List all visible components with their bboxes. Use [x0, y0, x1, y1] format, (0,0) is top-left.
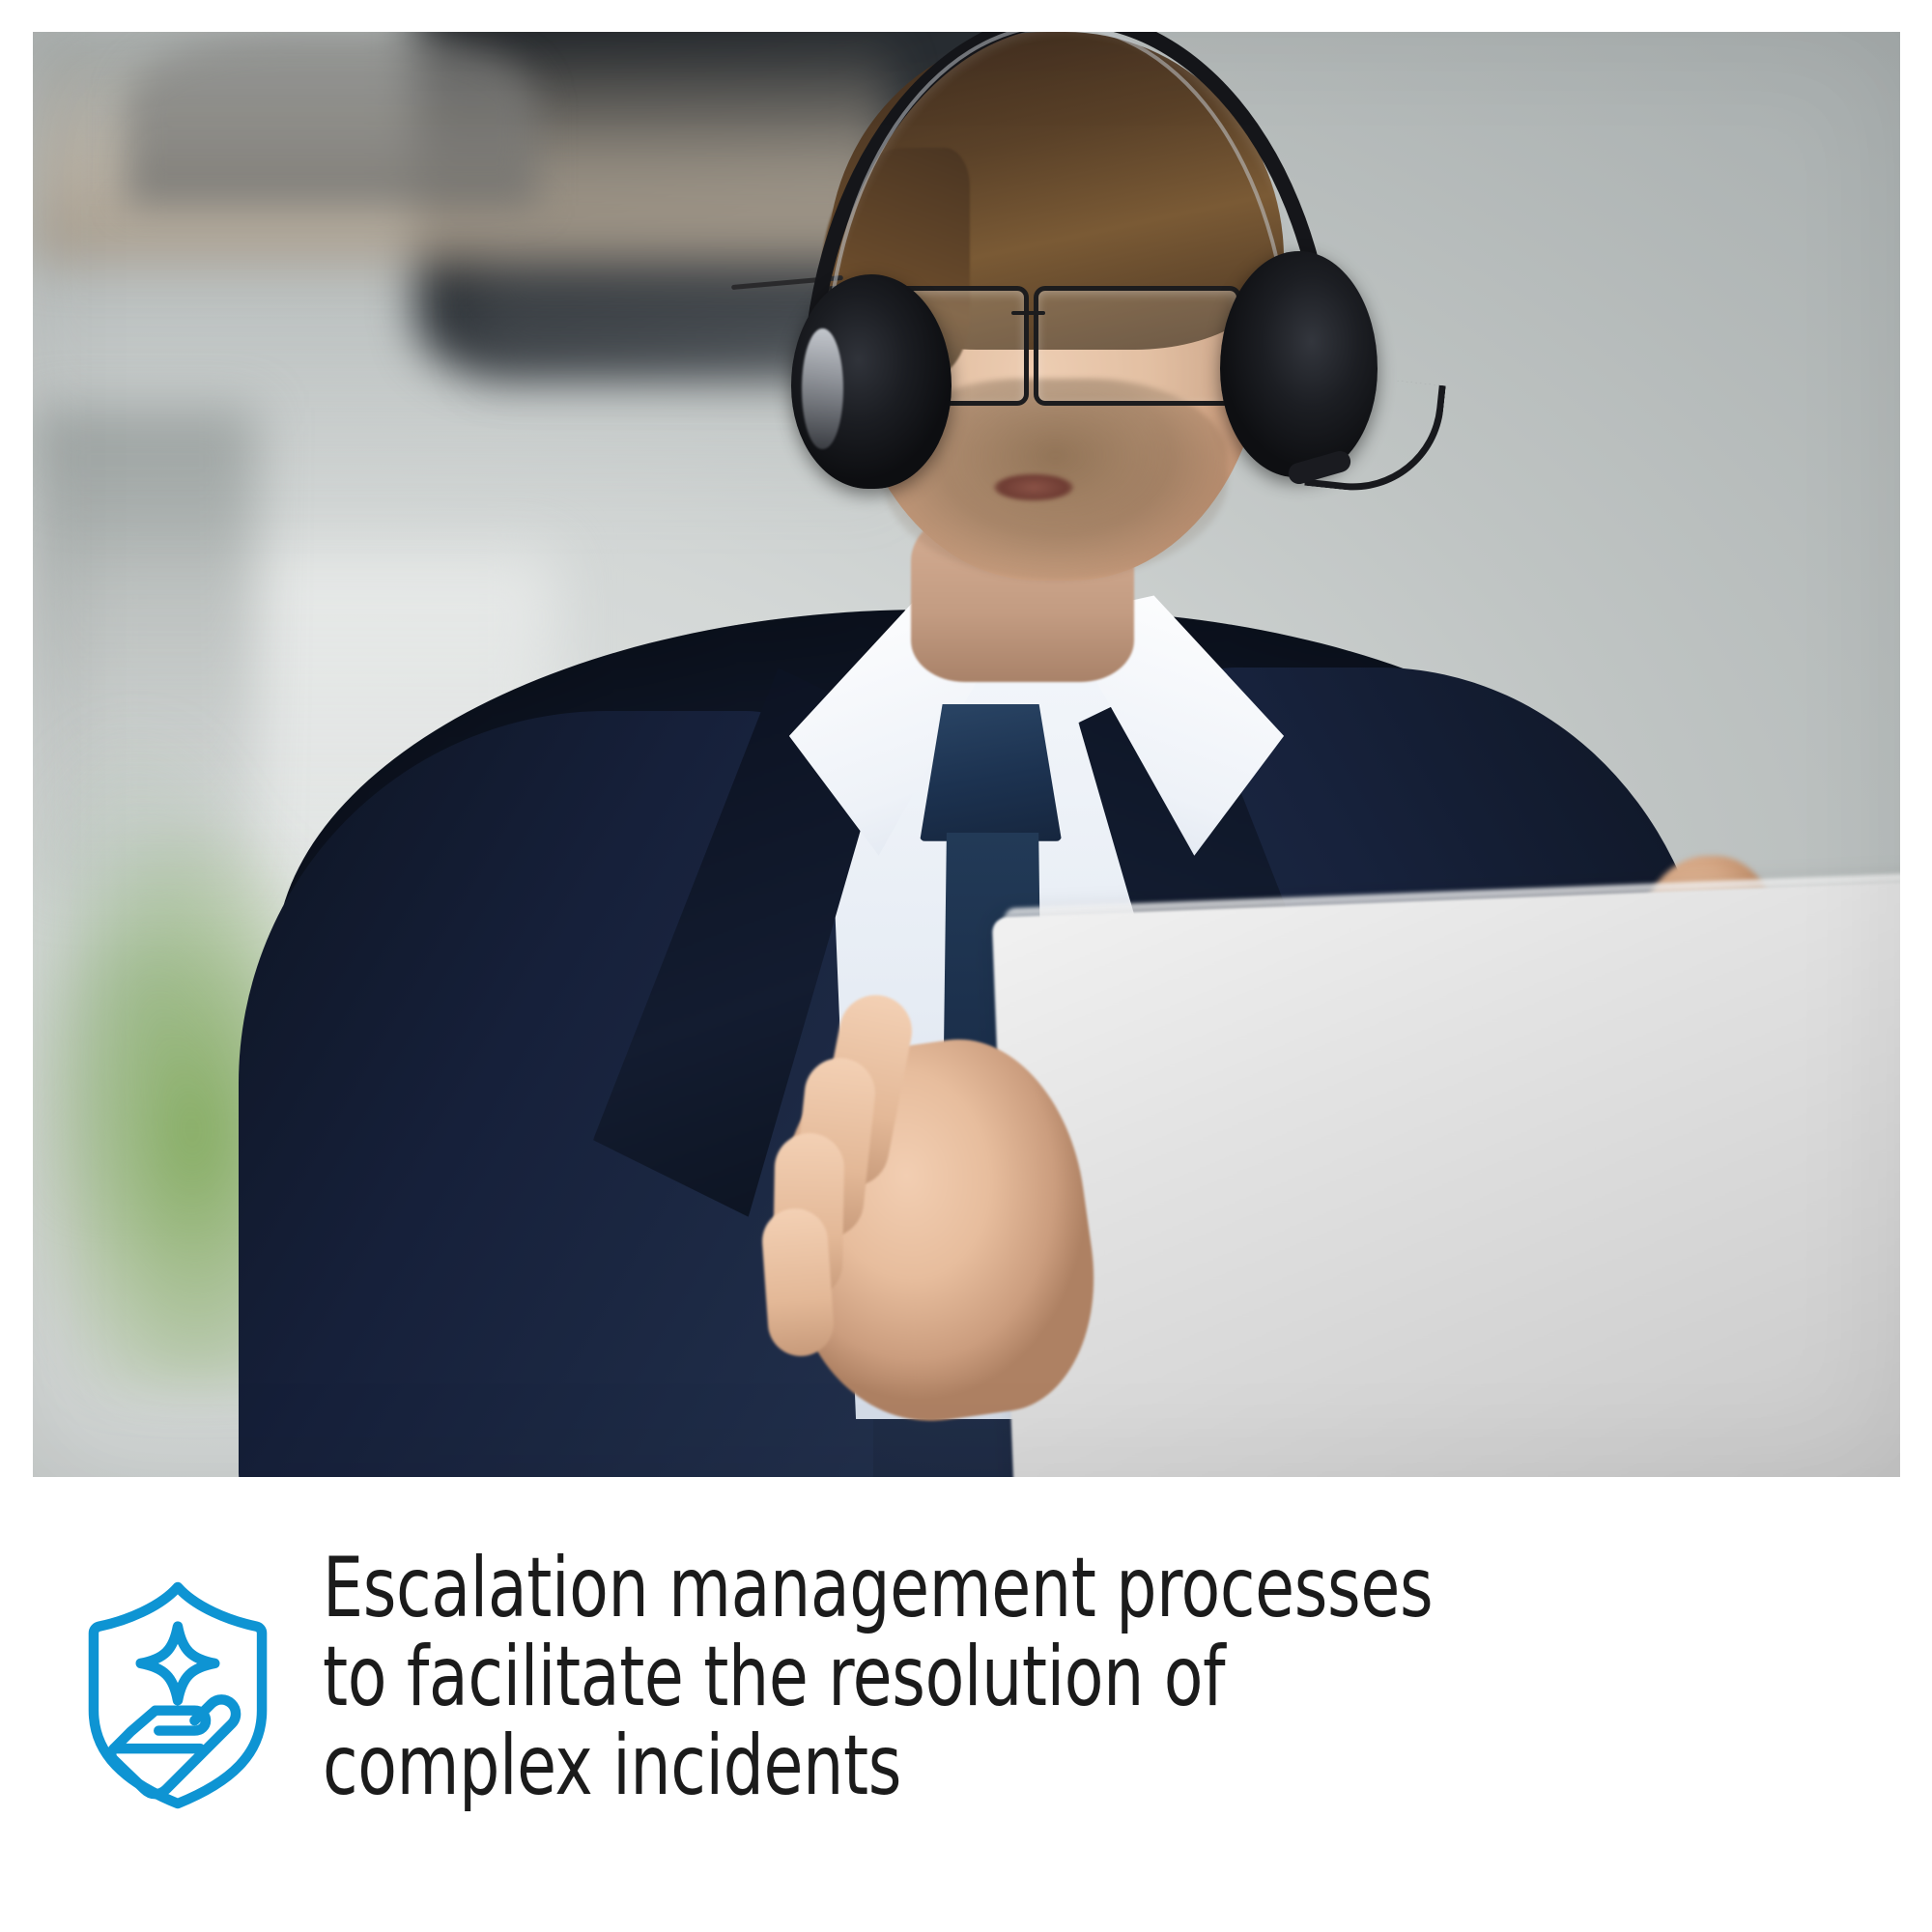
caption-icon-slot	[33, 1507, 323, 1810]
caption-text: Escalation management processes to facil…	[323, 1507, 1679, 1810]
page-canvas: Escalation management processes to facil…	[0, 0, 1932, 1932]
caption-block: Escalation management processes to facil…	[33, 1507, 1900, 1893]
photo-vignette	[33, 32, 1900, 1477]
hero-photo	[33, 32, 1900, 1477]
shield-hand-sparkle-icon	[88, 1580, 268, 1810]
